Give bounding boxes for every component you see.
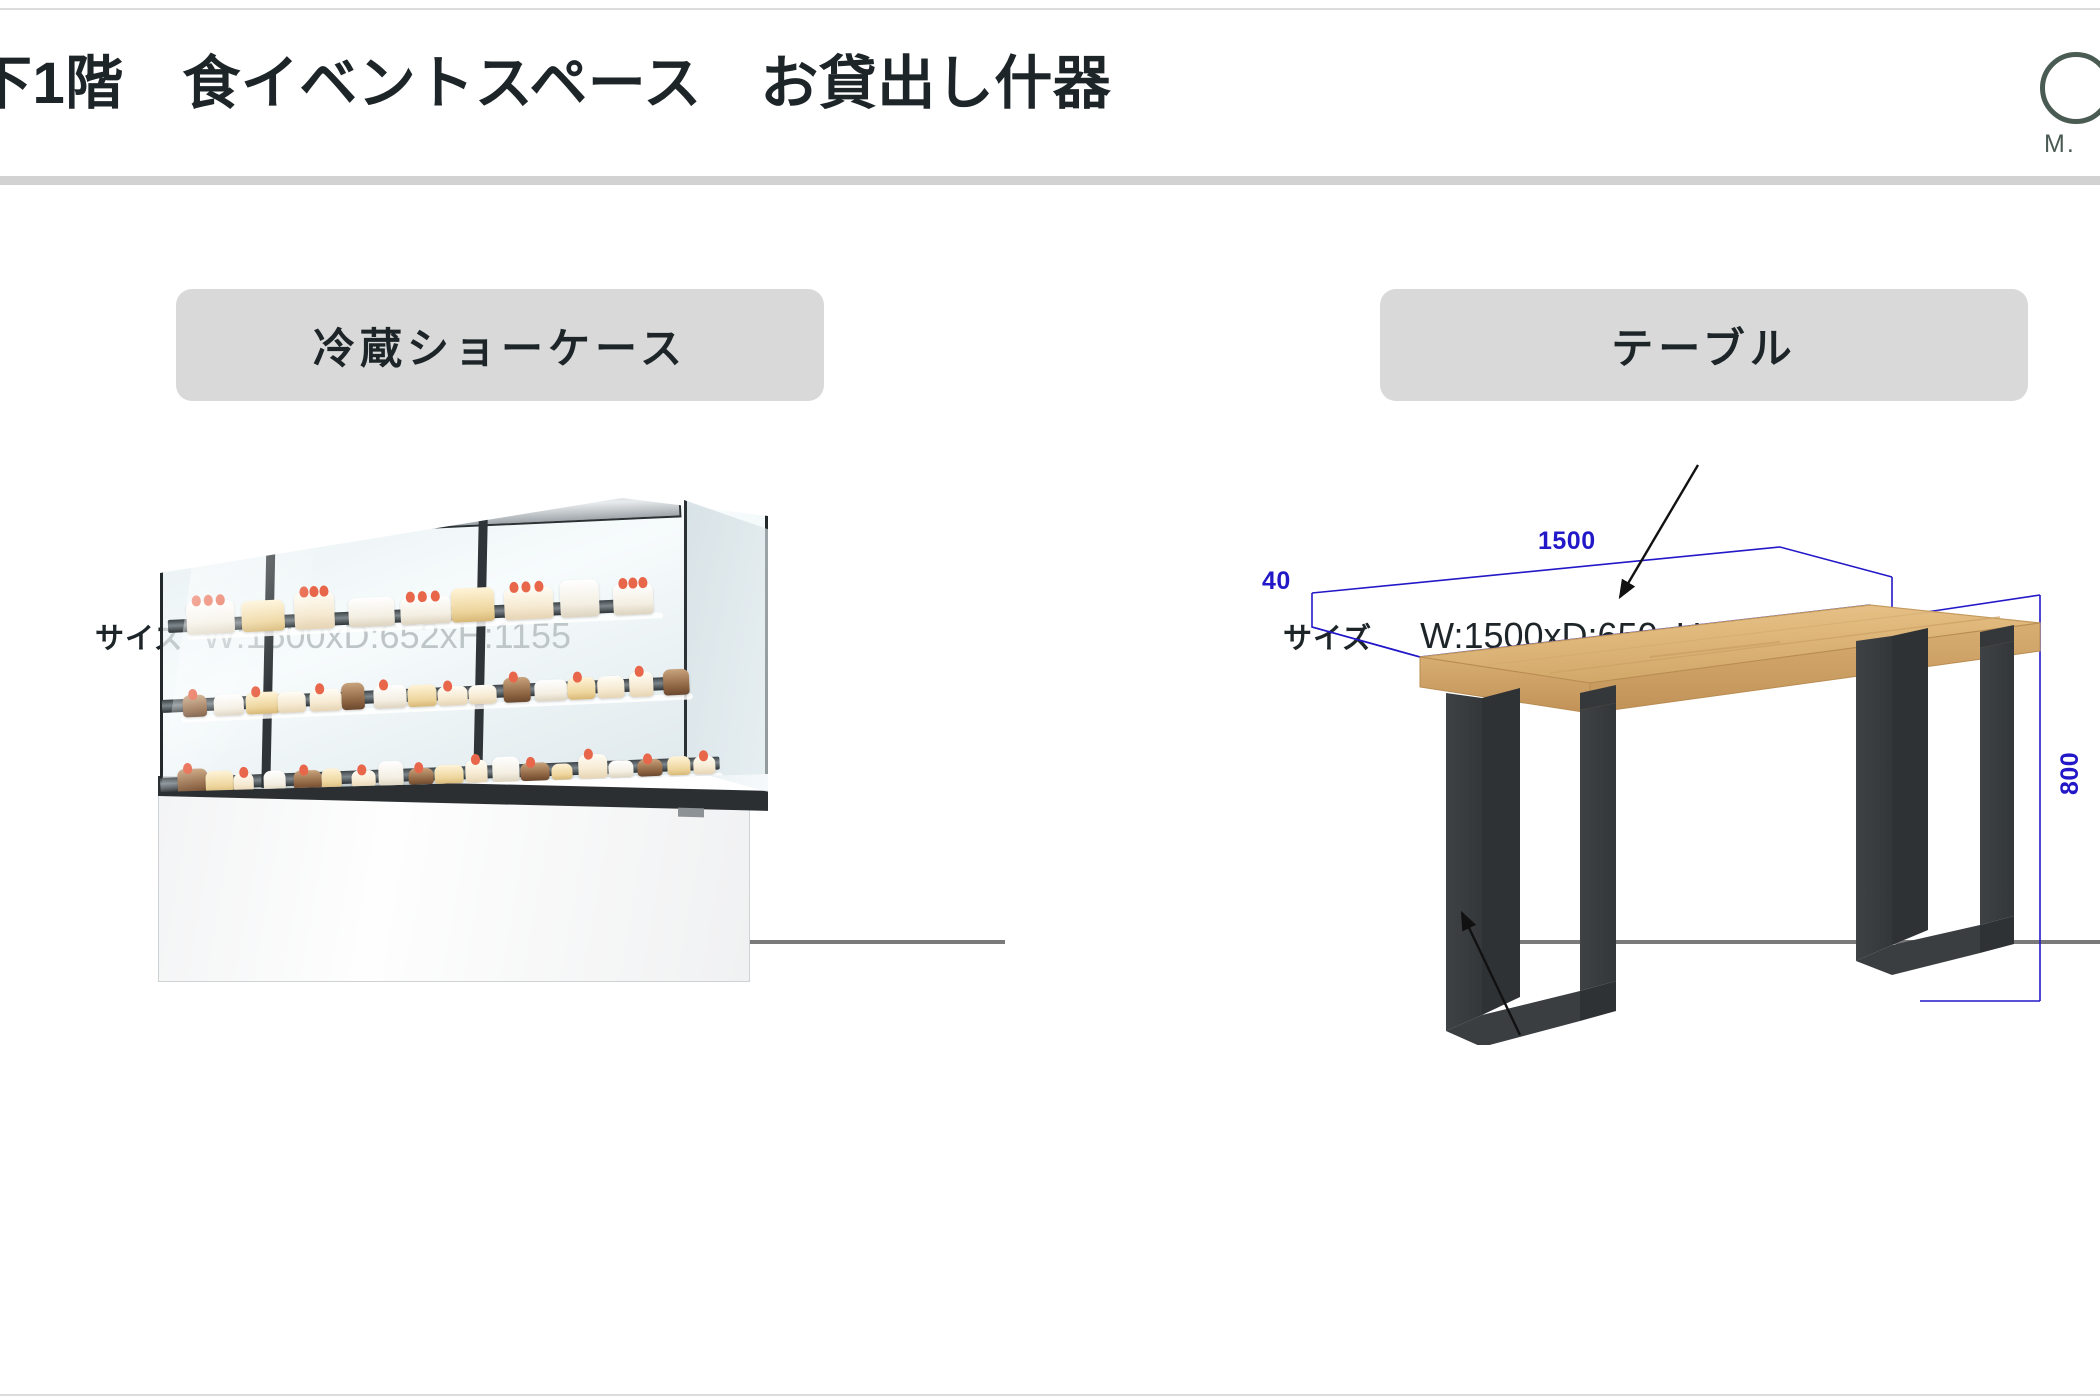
showcase-strawberry (534, 581, 543, 592)
showcase-pastry (597, 675, 625, 699)
showcase-strawberry (357, 764, 366, 775)
table-drawing: 1500 40 800 (1220, 445, 2100, 1045)
showcase-pastry (205, 770, 233, 792)
category-pill-table[interactable]: テーブル (1380, 289, 2028, 401)
showcase-cabinet-base (158, 790, 750, 982)
showcase-pastry (451, 587, 495, 623)
showcase-strawberry (643, 754, 652, 765)
showcase-strawberry (188, 689, 197, 700)
showcase-pastry (551, 763, 572, 780)
showcase-strawberry (414, 762, 423, 773)
showcase-pastry (578, 753, 607, 778)
showcase-pastry (182, 694, 207, 717)
showcase-pastry (437, 685, 468, 706)
showcase-strawberry (508, 672, 517, 683)
showcase-strawberry (431, 590, 440, 601)
showcase-strawberry (628, 577, 637, 588)
showcase-strawberry (509, 582, 518, 593)
page-header: 下1階 食イベントスペース お貸出し什器 M. (0, 10, 2100, 172)
showcase-pastry (241, 599, 285, 632)
bottom-hairline-divider (0, 1394, 2100, 1396)
showcase-strawberry (379, 679, 388, 690)
showcase-pastry (399, 596, 451, 625)
dimension-label-thickness: 40 (1262, 567, 1291, 596)
showcase-strawberry (526, 757, 535, 768)
showcase-pastry (534, 679, 568, 702)
showcase-brand-plate (678, 808, 704, 818)
showcase-cake-row-middle (179, 648, 693, 717)
showcase-strawberry (443, 680, 452, 691)
page-title: 下1階 食イベントスペース お貸出し什器 (0, 52, 1111, 116)
showcase-strawberry (634, 665, 643, 676)
showcase-pastry (293, 770, 321, 790)
brand-logo[interactable]: M. (2032, 50, 2100, 158)
showcase-pastry (504, 586, 555, 620)
showcase-strawberry (315, 684, 324, 695)
showcase-pastry (628, 671, 654, 698)
showcase-pastry (341, 682, 365, 710)
showcase-strawberry (309, 586, 318, 597)
showcase-strawberry (618, 577, 627, 588)
showcase-pastry (492, 757, 520, 783)
showcase-strawberry (192, 595, 201, 606)
showcase-strawberry (522, 581, 531, 592)
circle-outline-icon (2040, 52, 2100, 124)
showcase-cake-row-bottom (173, 727, 722, 792)
showcase-strawberry (299, 765, 308, 776)
showcase-strawberry (239, 766, 248, 777)
column-table: テーブル サイズ W:1500xD:650xH:800 (1050, 175, 2100, 1394)
showcase-cake-row-top (185, 567, 663, 635)
leader-arrow-tabletop (1620, 465, 1698, 597)
showcase-image (150, 470, 830, 990)
showcase-strawberry (299, 587, 308, 598)
showcase-pastry (213, 694, 244, 716)
showcase-pastry (612, 582, 654, 615)
table-leg-left (1446, 685, 1616, 1045)
showcase-pastry (637, 759, 662, 777)
showcase-pastry (608, 760, 634, 777)
table-leg-right (1856, 625, 2014, 975)
showcase-strawberry (471, 754, 480, 765)
showcase-pastry (321, 769, 342, 789)
showcase-strawberry (405, 592, 414, 603)
showcase-pastry (559, 579, 600, 618)
showcase-pastry (407, 684, 437, 707)
showcase-pastry (233, 772, 254, 792)
content-area: 冷蔵ショーケース サイズ W:1500xD:652xH:1155 (0, 175, 2100, 1394)
showcase-pastry (663, 669, 689, 696)
showcase-pastry (693, 756, 715, 774)
showcase-pastry (245, 691, 280, 715)
showcase-pastry (351, 770, 376, 788)
showcase-strawberry (251, 686, 260, 697)
showcase-pastry (667, 756, 690, 776)
page-root: 下1階 食イベントスペース お貸出し什器 M. 冷蔵ショーケース サイズ W:1… (0, 0, 2100, 1400)
showcase-pastry (348, 596, 395, 627)
showcase-pastry (294, 592, 335, 630)
category-label-showcase: 冷蔵ショーケース (313, 315, 687, 376)
column-showcase: 冷蔵ショーケース サイズ W:1500xD:652xH:1155 (0, 175, 1050, 1394)
category-pill-showcase[interactable]: 冷蔵ショーケース (176, 289, 824, 401)
dimension-label-height: 800 (2056, 752, 2085, 795)
showcase-strawberry (216, 594, 225, 605)
showcase-strawberry (638, 577, 647, 588)
showcase-pastry (434, 765, 464, 785)
showcase-strawberry (418, 591, 427, 602)
showcase-strawberry (584, 748, 593, 759)
showcase-pastry (520, 762, 549, 781)
brand-wordmark: M. (2044, 130, 2076, 158)
showcase-pastry (264, 770, 287, 791)
showcase-pastry (178, 768, 209, 792)
showcase-pastry (502, 677, 530, 703)
showcase-pastry (378, 761, 403, 787)
showcase-pastry (465, 759, 487, 783)
showcase-strawberry (699, 750, 708, 761)
showcase-pastry (567, 676, 596, 700)
showcase-strawberry (573, 671, 582, 682)
showcase-canopy (180, 492, 681, 540)
table-drawing-svg (1220, 445, 2100, 1045)
showcase-pastry (277, 691, 306, 714)
showcase-pastry (468, 684, 496, 704)
category-label-table: テーブル (1611, 315, 1796, 376)
showcase-strawberry (204, 595, 213, 606)
showcase-strawberry (319, 586, 328, 597)
showcase-pastry (186, 600, 235, 635)
dimension-label-width: 1500 (1538, 527, 1596, 556)
showcase-pastry (408, 767, 433, 785)
showcase-pastry (310, 689, 342, 712)
showcase-interior (160, 492, 768, 792)
showcase-pastry (373, 685, 407, 709)
showcase-strawberry (183, 763, 192, 774)
